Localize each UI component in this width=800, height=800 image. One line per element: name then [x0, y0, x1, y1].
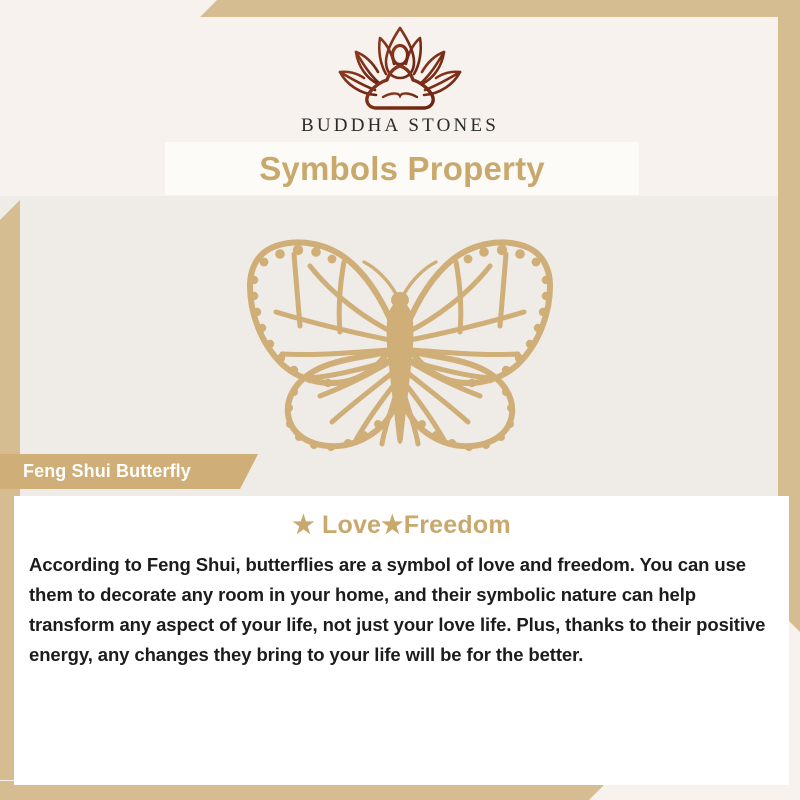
- butterfly-illustration: [224, 232, 576, 460]
- description-card: ★ Love★Freedom According to Feng Shui, b…: [14, 496, 789, 785]
- butterfly-icon: [224, 232, 576, 460]
- brand-wordmark: BUDDHA STONES: [0, 115, 800, 137]
- gold-border-top: [200, 0, 800, 17]
- lotus-meditation-icon: [320, 22, 480, 114]
- content-paragraph: According to Feng Shui, butterflies are …: [14, 540, 789, 670]
- symbols-property-infographic: BUDDHA STONES Symbols Property: [0, 0, 800, 800]
- page-title-band: Symbols Property: [165, 142, 639, 195]
- feng-shui-butterfly-banner: Feng Shui Butterfly: [0, 454, 258, 489]
- banner-label: Feng Shui Butterfly: [23, 461, 191, 482]
- content-subtitle: ★ Love★Freedom: [14, 496, 789, 540]
- page-title: Symbols Property: [259, 150, 545, 188]
- brand-logo: BUDDHA STONES: [0, 22, 800, 137]
